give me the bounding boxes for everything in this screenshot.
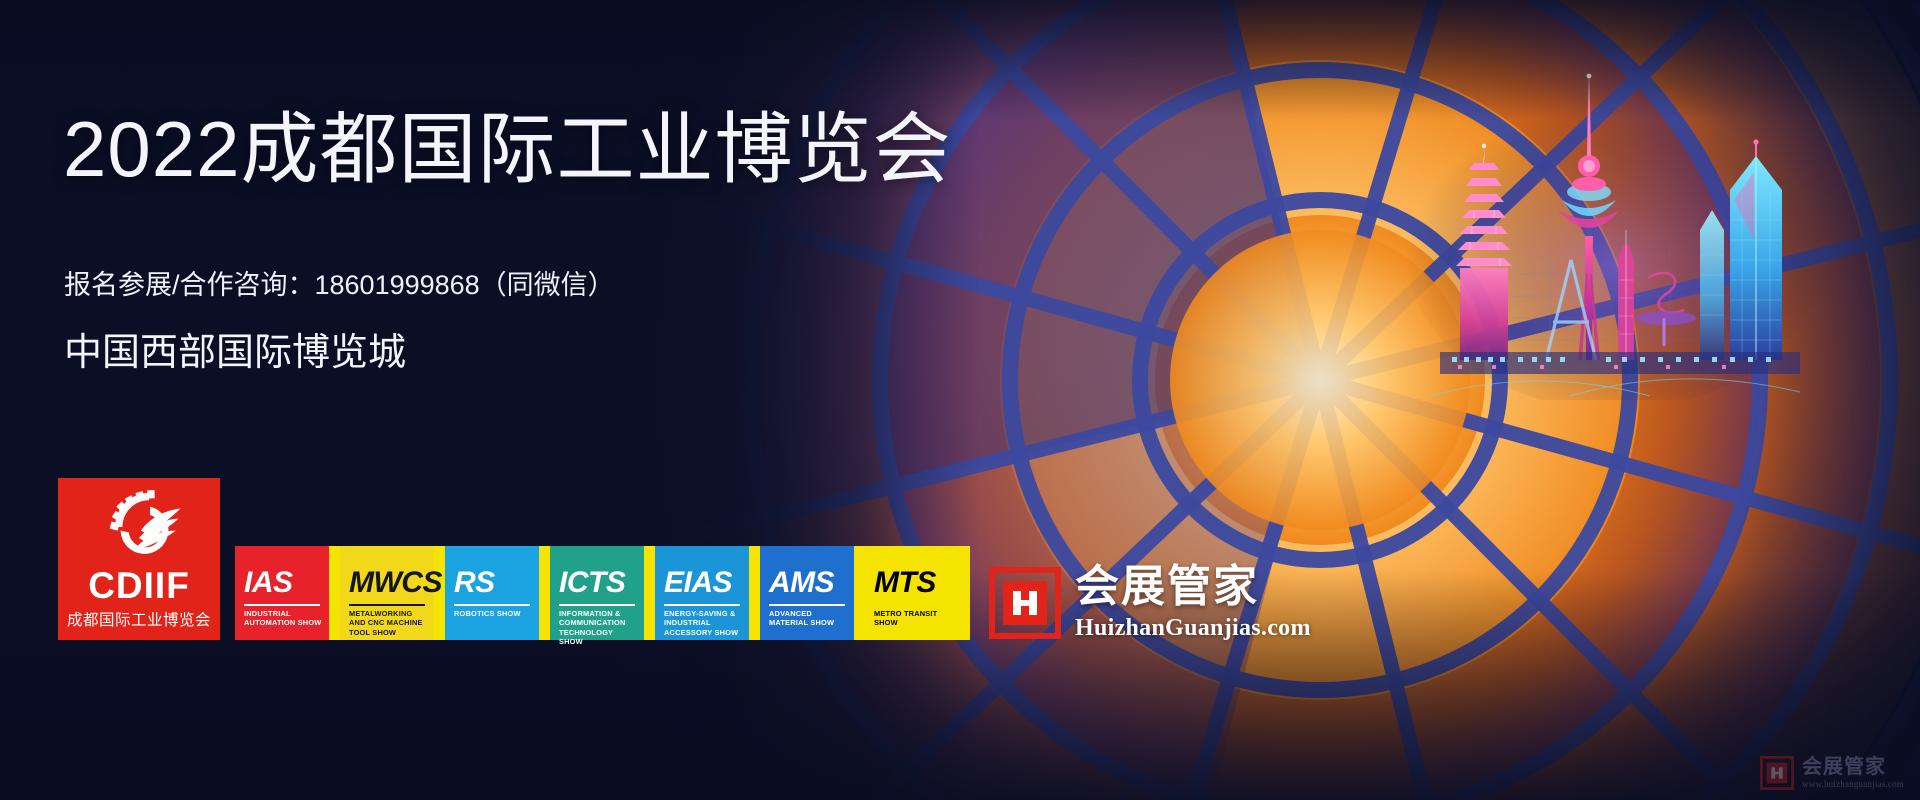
top-vignette [0,0,1920,120]
show-subtitle: ROBOTICS SHOW [454,609,533,618]
show-abbr: ICTS [559,568,636,598]
show-logo-ias[interactable]: IAS INDUSTRIAL AUTOMATION SHOW [235,546,329,640]
square-h-icon [1760,756,1794,790]
watermark-domain: www.huizhanguanjias.com [1802,780,1904,789]
partner-chinese-name: 会展管家 [1075,565,1311,609]
watermark-chinese: 会展管家 [1802,757,1904,777]
show-logo-list: IAS INDUSTRIAL AUTOMATION SHOW MWCS META… [235,546,970,640]
contact-line: 报名参展/合作咨询：18601999868（同微信） [64,272,615,299]
show-rule [349,604,425,606]
watermark: 会展管家 www.huizhanguanjias.com [1760,756,1904,790]
show-abbr: AMS [769,568,846,598]
show-rule [244,604,320,606]
show-logo-icts[interactable]: ICTS INFORMATION & COMMUNICATION TECHNOL… [550,546,644,640]
show-abbr: IAS [244,568,321,598]
square-h-icon [989,567,1061,639]
venue-name: 中国西部国际博览城 [64,334,406,372]
show-logo-eias[interactable]: EIAS ENERGY-SAVING & INDUSTRIAL ACCESSOR… [655,546,749,640]
partner-domain: HuizhanGuanjias.com [1075,616,1311,640]
watermark-text: 会展管家 www.huizhanguanjias.com [1802,757,1904,789]
show-logo-mts[interactable]: MTS METRO TRANSIT SHOW [865,546,959,640]
logo-strip: CDIIF 成都国际工业博览会 IAS INDUSTRIAL AUTOMATIO… [58,478,1311,640]
show-subtitle: ENERGY-SAVING & INDUSTRIAL ACCESSORY SHO… [664,609,743,637]
cdiif-abbr: CDIIF [88,567,190,604]
show-logo-mwcs[interactable]: MWCS METALWORKING AND CNC MACHINE TOOL S… [340,546,434,640]
show-subtitle: METALWORKING AND CNC MACHINE TOOL SHOW [349,609,428,637]
show-abbr: RS [454,568,531,598]
show-rule [664,604,740,606]
show-logo-ams[interactable]: AMS ADVANCED MATERIAL SHOW [760,546,854,640]
show-subtitle: INFORMATION & COMMUNICATION TECHNOLOGY S… [559,609,638,647]
show-logo-rs[interactable]: RS ROBOTICS SHOW [445,546,539,640]
gear-flame-icon [93,490,185,562]
show-rule [769,604,845,606]
page-title: 2022成都国际工业博览会 [63,110,952,188]
show-rule [874,604,950,606]
show-rule [559,604,635,606]
show-subtitle: METRO TRANSIT SHOW [874,609,953,628]
show-subtitle: ADVANCED MATERIAL SHOW [769,609,848,628]
banner-root: 2022成都国际工业博览会 报名参展/合作咨询：18601999868（同微信）… [0,0,1920,800]
huizhanguanjia-logo[interactable]: 会展管家 HuizhanGuanjias.com [989,565,1311,640]
show-abbr: EIAS [664,568,741,598]
huizhanguanjia-text: 会展管家 HuizhanGuanjias.com [1075,565,1311,640]
cdiif-chinese-name: 成都国际工业博览会 [67,613,211,629]
cdiif-logo[interactable]: CDIIF 成都国际工业博览会 [58,478,220,640]
show-subtitle: INDUSTRIAL AUTOMATION SHOW [244,609,323,628]
show-abbr: MWCS [349,568,426,598]
show-abbr: MTS [874,568,951,598]
show-rule [454,604,530,606]
